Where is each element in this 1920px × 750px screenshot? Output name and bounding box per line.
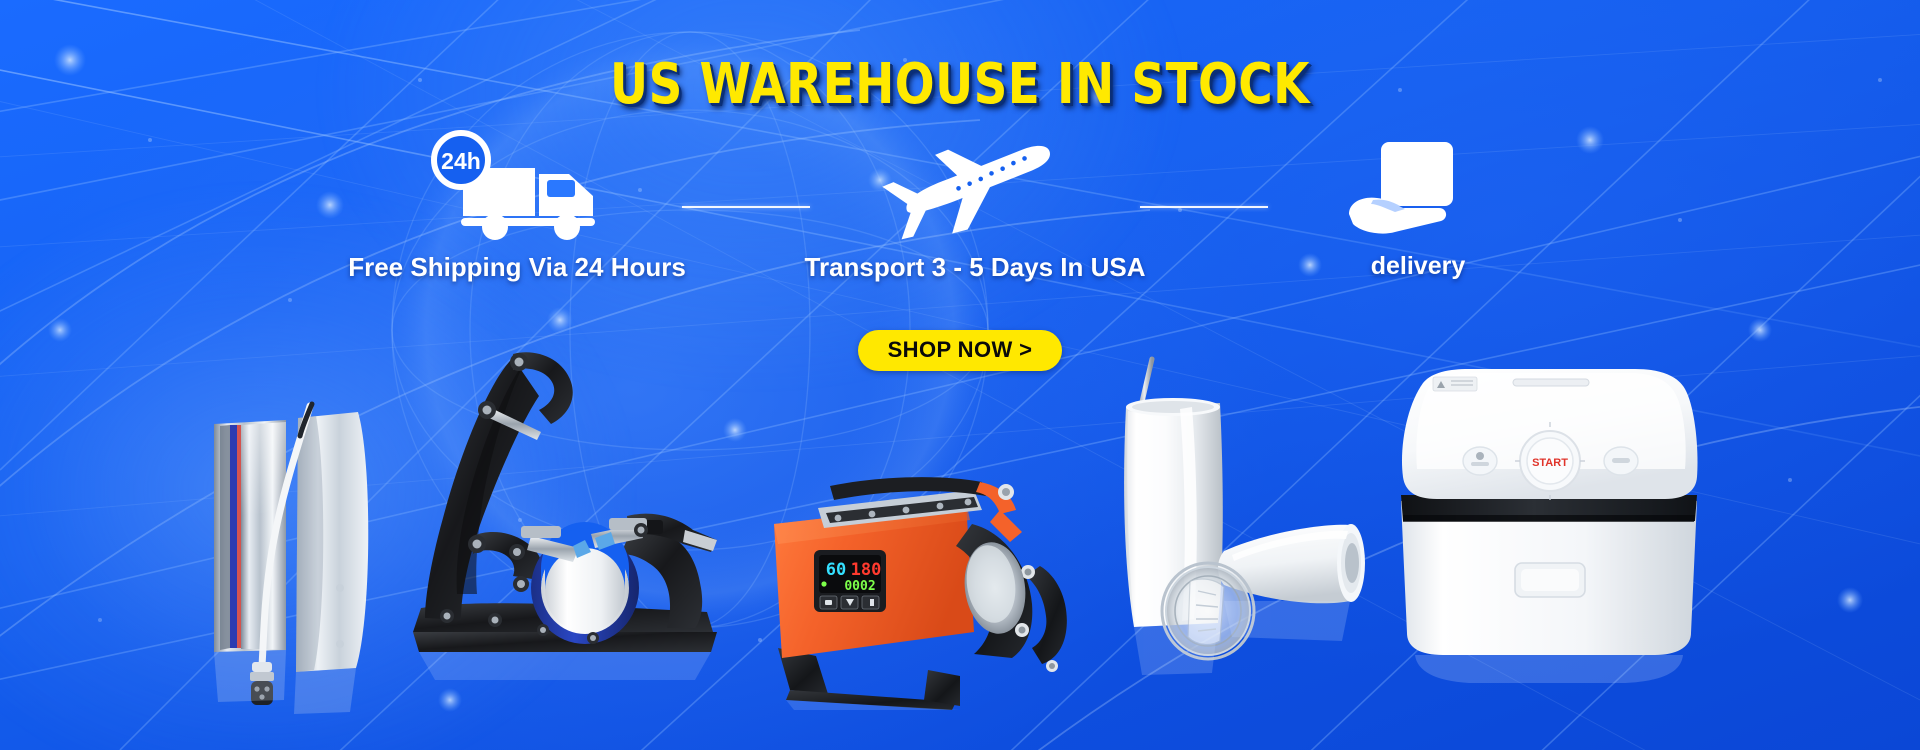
product-mug-press[interactable] (395, 340, 735, 680)
product-tumblers[interactable] (1120, 355, 1400, 685)
product-heating-pad[interactable] (190, 400, 390, 730)
oven-start-label: START (1532, 457, 1568, 469)
svg-text:180: 180 (851, 560, 882, 580)
svg-text:0002: 0002 (844, 579, 875, 594)
product-oven[interactable]: START (1385, 365, 1715, 685)
svg-text:60: 60 (826, 560, 846, 580)
product-showcase: 60 180 0002 (0, 0, 1920, 750)
product-orange-press[interactable]: 60 180 0002 (760, 480, 1100, 710)
promo-banner: US WAREHOUSE IN STOCK 24 (0, 0, 1920, 750)
